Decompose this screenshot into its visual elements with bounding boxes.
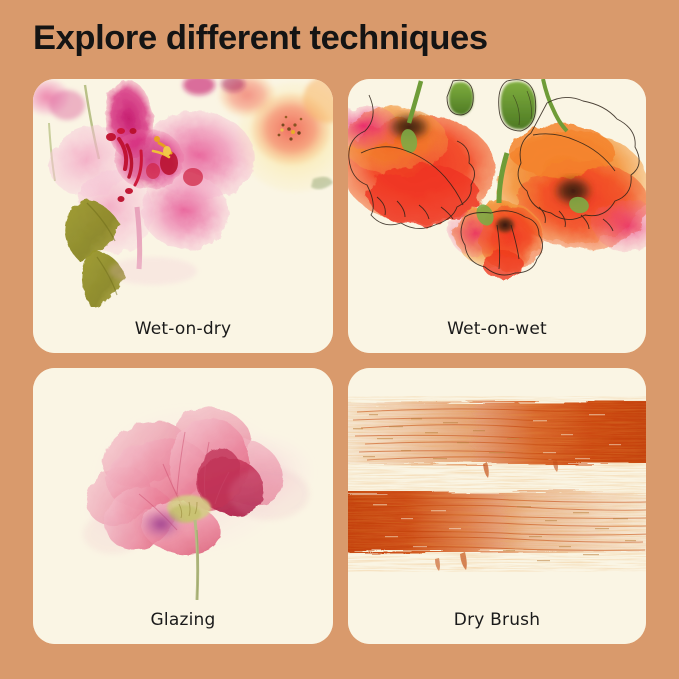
artwork-wet-on-dry: [33, 79, 333, 309]
card-label-wet-on-dry: Wet-on-dry: [33, 309, 333, 353]
artwork-glazing: [33, 368, 333, 600]
page-title: Explore different techniques: [33, 19, 488, 58]
technique-card-wet-on-dry[interactable]: Wet-on-dry: [33, 79, 333, 353]
card-label-dry-brush: Dry Brush: [348, 600, 646, 644]
technique-card-glazing[interactable]: Glazing: [33, 368, 333, 644]
poster-root: Explore different techniques: [0, 0, 679, 679]
technique-card-dry-brush[interactable]: Dry Brush: [348, 368, 646, 644]
artwork-dry-brush: [348, 368, 646, 600]
artwork-wet-on-wet: [348, 79, 646, 309]
technique-card-wet-on-wet[interactable]: Wet-on-wet: [348, 79, 646, 353]
card-label-glazing: Glazing: [33, 600, 333, 644]
card-label-wet-on-wet: Wet-on-wet: [348, 309, 646, 353]
